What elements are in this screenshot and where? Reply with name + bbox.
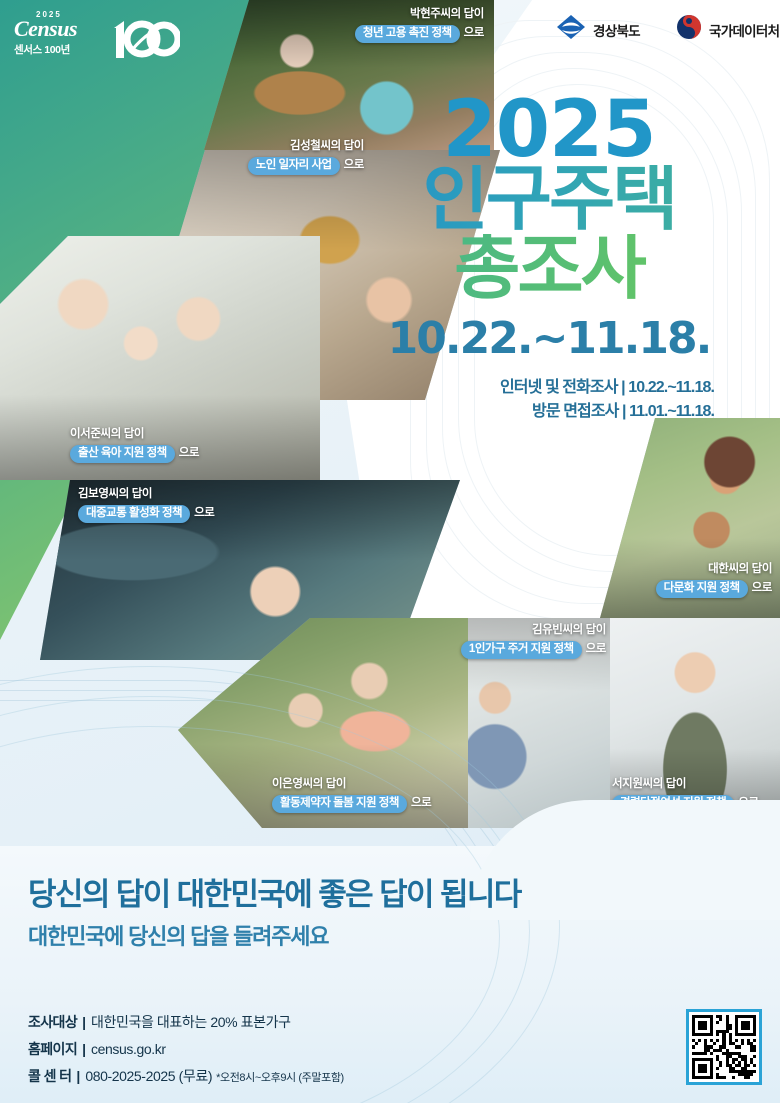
caption-person: 김성철씨의 답이 [214, 140, 364, 154]
caption-policy-pill: 노인 일자리 사업 [248, 157, 340, 176]
caption-policy-pill: 활동제약자 돌봄 지원 정책 [272, 795, 407, 814]
gov-logo-national-data-office: 국가데이터처 [676, 14, 779, 45]
gyeongsangbuk-do-emblem-icon [556, 14, 586, 45]
caption-tail: 으로 [344, 159, 364, 173]
taegeuk-government-emblem-icon [676, 14, 702, 45]
census-poster: 박현주씨의 답이 청년 고용 촉진 정책 으로 김성철씨의 답이 노인 일자리 … [0, 0, 780, 1103]
caption-policy-pill: 다문화 지원 정책 [656, 580, 748, 599]
caption-person: 이은영씨의 답이 [272, 778, 431, 792]
caption-caregiver-wheelchair: 이은영씨의 답이 활동제약자 돌봄 지원 정책 으로 [272, 778, 431, 813]
survey-method-online: 인터넷 및 전화조사 | 10.22.~11.18. [384, 376, 714, 400]
caption-multicultural-father-child: 대한씨의 답이 다문화 지원 정책 으로 [620, 563, 772, 598]
caption-person: 서지원씨의 답이 [612, 778, 759, 792]
caption-senior-barista: 김성철씨의 답이 노인 일자리 사업 으로 [214, 140, 364, 175]
footer-website-link[interactable]: census.go.kr [91, 1041, 166, 1057]
caption-young-family-baby: 이서준씨의 답이 출산 육아 지원 정책 으로 [70, 428, 199, 463]
caption-person: 이서준씨의 답이 [70, 428, 199, 442]
census-qr-code[interactable] [686, 1009, 762, 1085]
caption-policy-pill: 대중교통 활성화 정책 [78, 505, 190, 524]
footer-info: 조사대상 | 대한민국을 대표하는 20% 표본가구 홈페이지 | census… [28, 1012, 344, 1093]
slogan-block: 당신의 답이 대한민국에 좋은 답이 됩니다 대한민국에 당신의 답을 들려주세… [28, 878, 521, 951]
caption-tail: 으로 [411, 797, 431, 811]
caption-person: 김보영씨의 답이 [78, 488, 214, 502]
slogan-secondary: 대한민국에 당신의 답을 들려주세요 [28, 919, 521, 951]
caption-policy-pill: 청년 고용 촉진 정책 [355, 25, 460, 44]
gov-logo-label: 국가데이터처 [709, 20, 779, 40]
gov-logo-label: 경상북도 [593, 20, 640, 40]
slogan-primary: 당신의 답이 대한민국에 좋은 답이 됩니다 [28, 878, 521, 912]
title-line-1: 인구주택 [384, 165, 714, 234]
caption-tail: 으로 [464, 27, 484, 41]
caption-tail: 으로 [179, 447, 199, 461]
gov-logo-gyeongsangbukdo: 경상북도 [556, 14, 640, 45]
main-title-block: 2025 인구주택 총조사 10.22.~11.18. 인터넷 및 전화조사 |… [384, 96, 714, 424]
footer-value: 대한민국을 대표하는 20% 표본가구 [91, 1012, 291, 1032]
caption-person: 김유빈씨의 답이 [430, 624, 606, 638]
footer-row-website[interactable]: 홈페이지 | census.go.kr [28, 1039, 344, 1059]
caption-person: 대한씨의 답이 [620, 563, 772, 577]
caption-policy-pill: 1인가구 주거 지원 정책 [461, 641, 582, 660]
footer-row-target: 조사대상 | 대한민국을 대표하는 20% 표본가구 [28, 1012, 344, 1032]
caption-policy-pill: 출산 육아 지원 정책 [70, 445, 175, 464]
footer-phone-number: 080-2025-2025 (무료) [85, 1066, 212, 1086]
caption-single-household-man: 김유빈씨의 답이 1인가구 주거 지원 정책 으로 [430, 624, 606, 659]
caption-person: 박현주씨의 답이 [254, 8, 484, 22]
caption-tail: 으로 [586, 643, 606, 657]
brand-wordmark: Census [14, 19, 77, 40]
anniversary-100-icon [108, 16, 180, 67]
footer-separator: | [82, 1014, 86, 1030]
caption-woman-on-bus: 김보영씨의 답이 대중교통 활성화 정책 으로 [78, 488, 214, 523]
caption-young-woman-scooter: 박현주씨의 답이 청년 고용 촉진 정책 으로 [254, 8, 484, 43]
census-brand-logo: 2025 Census 센서스 100년 [14, 10, 77, 57]
footer-label: 콜 센 터 [28, 1066, 71, 1086]
brand-korean: 센서스 100년 [14, 42, 77, 57]
footer-label: 조사대상 [28, 1012, 77, 1032]
survey-method-lines: 인터넷 및 전화조사 | 10.22.~11.18. 방문 면접조사 | 11.… [384, 376, 714, 424]
caption-tail: 으로 [752, 582, 772, 596]
survey-method-visit: 방문 면접조사 | 11.01.~11.18. [384, 400, 714, 424]
footer-separator: | [76, 1068, 80, 1084]
footer-label: 홈페이지 [28, 1039, 77, 1059]
footer-hours-note: *오전8시~오후9시 (주말포함) [216, 1069, 344, 1085]
title-date-range: 10.22.~11.18. [384, 313, 714, 364]
footer-row-callcenter: 콜 센 터 | 080-2025-2025 (무료) *오전8시~오후9시 (주… [28, 1066, 344, 1086]
title-year: 2025 [384, 96, 714, 165]
title-line-2: 총조사 [384, 234, 714, 303]
footer-separator: | [82, 1041, 86, 1057]
qr-code-matrix [692, 1015, 756, 1079]
caption-tail: 으로 [194, 507, 214, 521]
